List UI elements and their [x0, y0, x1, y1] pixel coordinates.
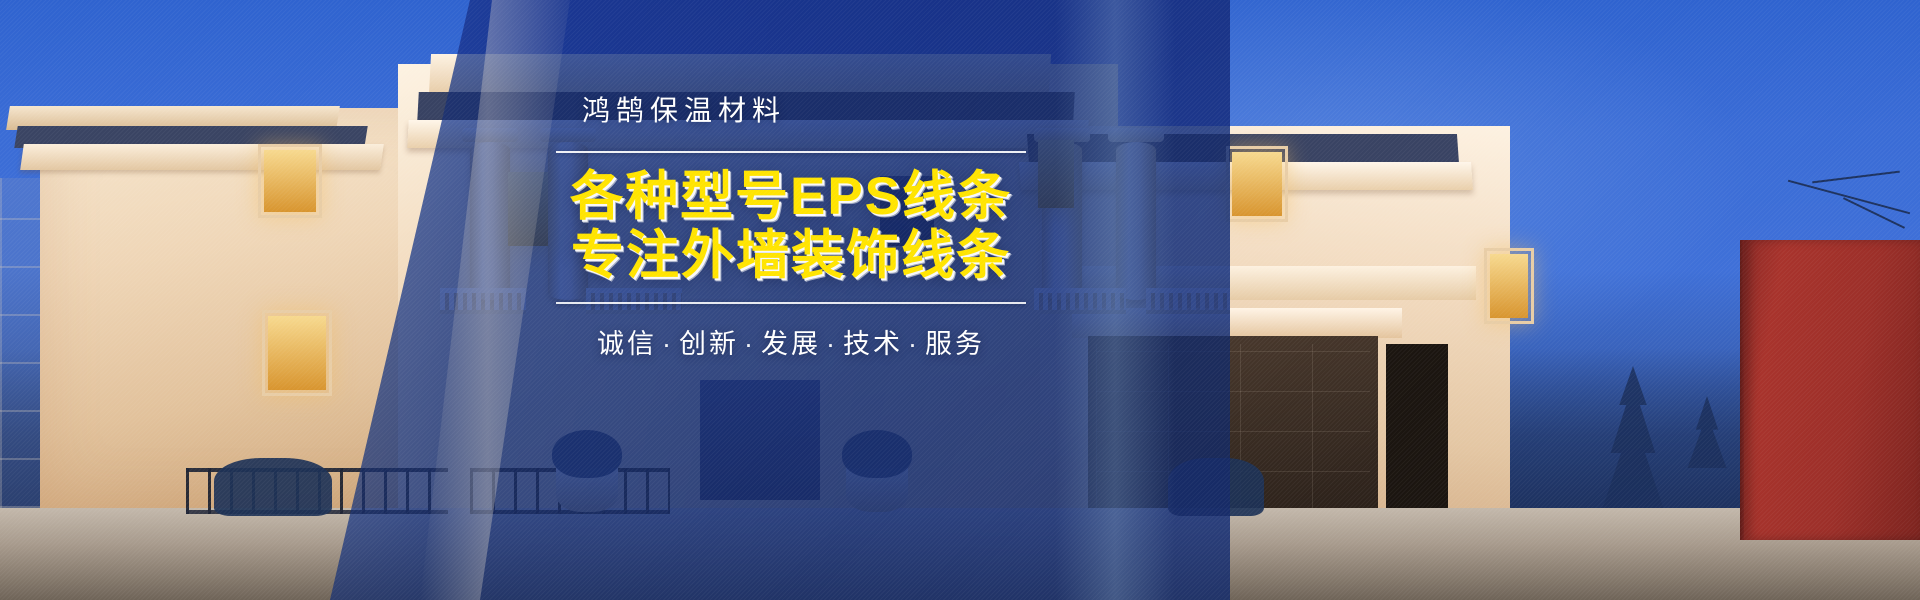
tagline-separator: · — [903, 329, 925, 359]
divider-bottom — [556, 302, 1026, 304]
tagline-separator: · — [821, 329, 843, 359]
light-shaft-secondary — [1055, 0, 1175, 600]
villa-left-cornice — [20, 144, 384, 170]
hero-copy: 鸿鹄保温材料 各种型号EPS线条 专注外墙装饰线条 诚信·创新·发展·技术·服务 — [556, 96, 1026, 361]
headline-line-1: 各种型号EPS线条 — [556, 167, 1026, 226]
hedge — [214, 458, 332, 516]
tagline-item: 发展 — [761, 329, 821, 359]
headline-line-2: 专注外墙装饰线条 — [556, 226, 1026, 285]
side-doorway — [1386, 344, 1448, 520]
tagline-item: 服务 — [925, 329, 985, 359]
tagline: 诚信·创新·发展·技术·服务 — [556, 322, 1026, 361]
window-frame — [1484, 248, 1534, 324]
brand-name: 鸿鹄保温材料 — [556, 96, 1026, 127]
window-frame — [1226, 146, 1288, 222]
tagline-item: 诚信 — [597, 329, 657, 359]
tagline-item: 技术 — [843, 329, 903, 359]
tagline-separator: · — [657, 329, 679, 359]
window-frame — [262, 310, 332, 396]
tagline-item: 创新 — [679, 329, 739, 359]
divider-top — [556, 151, 1026, 153]
hero-banner: 鸿鹄保温材料 各种型号EPS线条 专注外墙装饰线条 诚信·创新·发展·技术·服务 — [0, 0, 1920, 600]
red-wall-panel — [1744, 240, 1920, 540]
tagline-separator: · — [739, 329, 761, 359]
window-frame — [258, 144, 322, 218]
